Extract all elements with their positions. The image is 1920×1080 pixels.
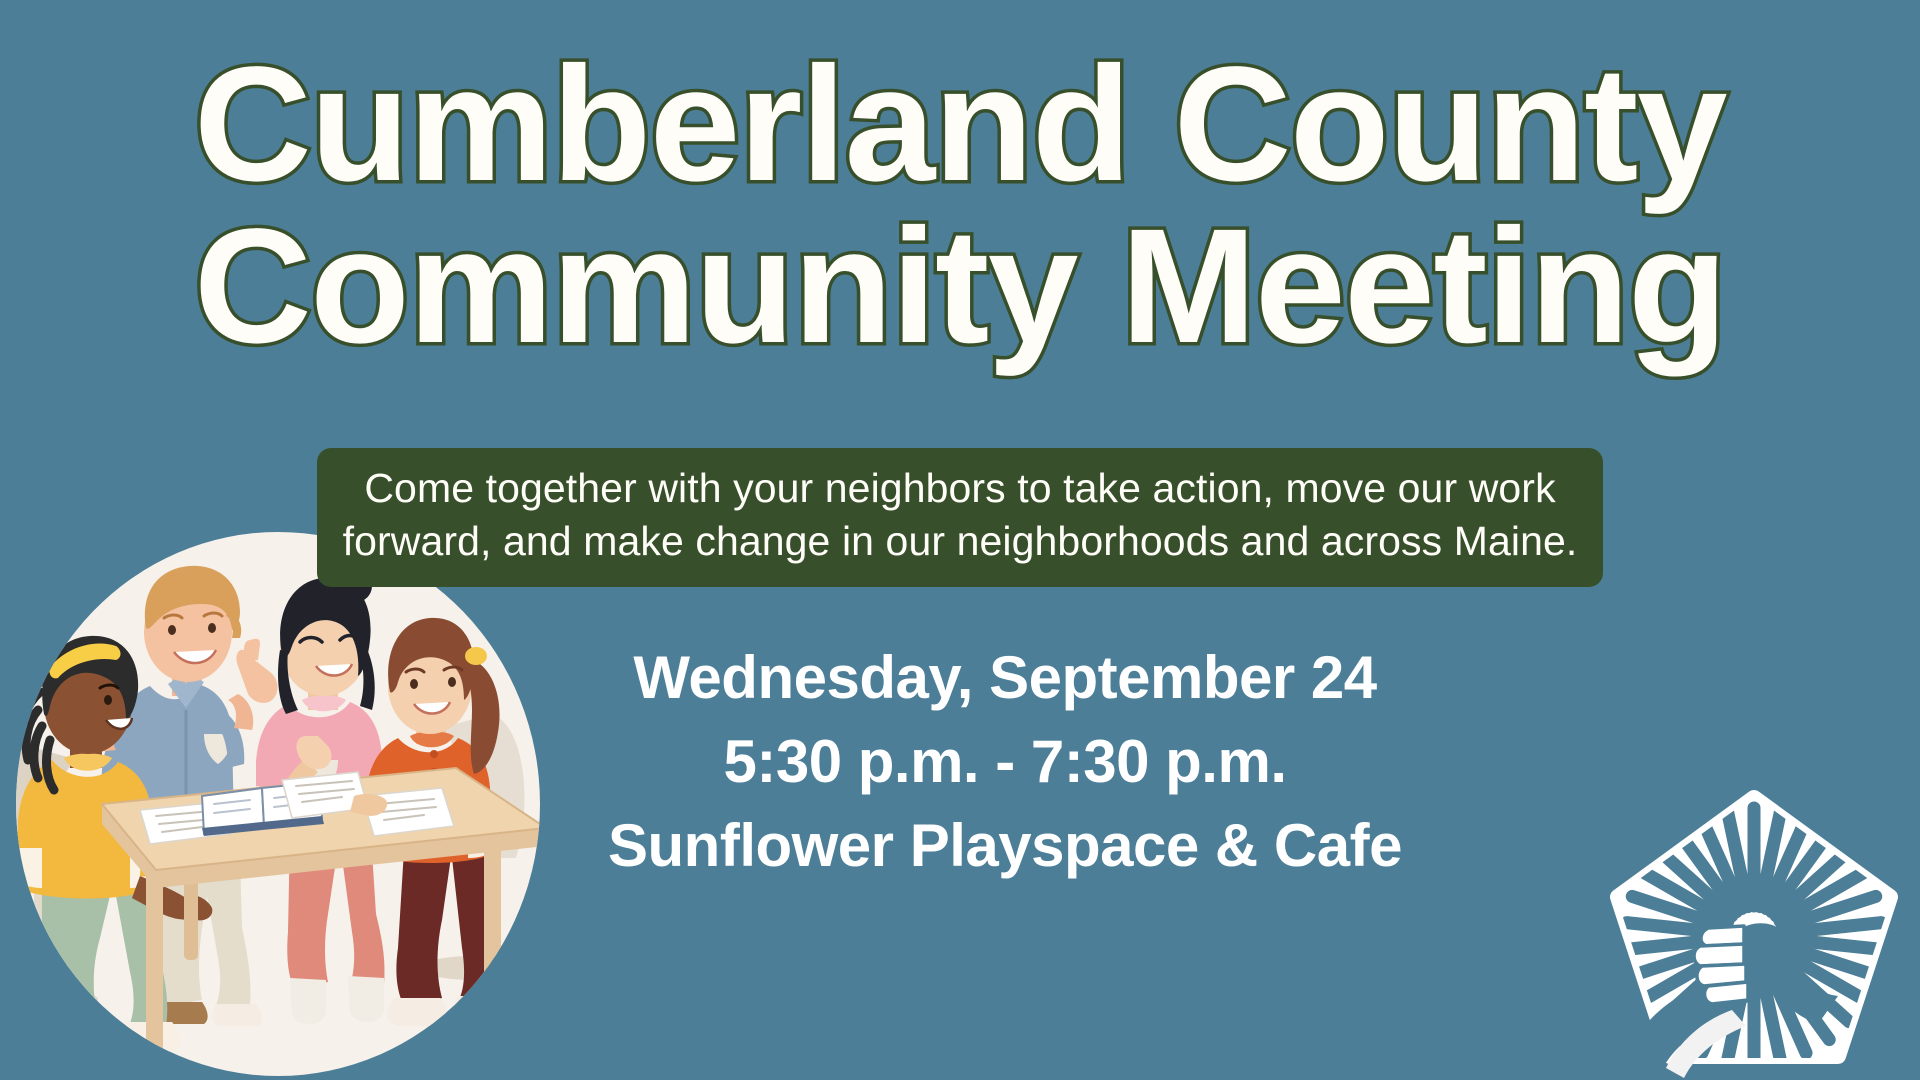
event-time: 5:30 p.m. - 7:30 p.m. [500, 720, 1510, 804]
subtitle-line-2: forward, and make change in our neighbor… [343, 515, 1578, 568]
clasped-hands-star-logo [1604, 786, 1904, 1080]
event-details: Wednesday, September 24 5:30 p.m. - 7:30… [500, 636, 1510, 888]
event-location: Sunflower Playspace & Cafe [500, 804, 1510, 888]
page-title: Cumberland County Community Meeting [0, 46, 1920, 365]
subtitle-band: Come together with your neighbors to tak… [317, 448, 1604, 587]
subtitle-banner: Come together with your neighbors to tak… [0, 448, 1920, 587]
event-date: Wednesday, September 24 [500, 636, 1510, 720]
flyer-canvas: Cumberland County Community Meeting Come… [0, 0, 1920, 1080]
title-line-2: Community Meeting [0, 208, 1920, 364]
subtitle-line-1: Come together with your neighbors to tak… [343, 462, 1578, 515]
people-around-table-illustration [6, 528, 566, 1080]
title-line-1: Cumberland County [0, 46, 1920, 202]
